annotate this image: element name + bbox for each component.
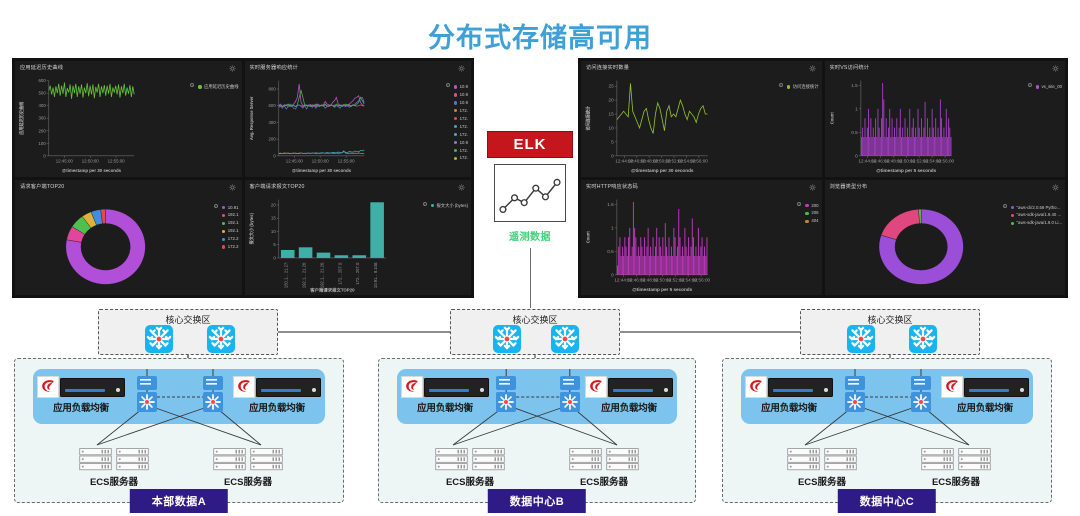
datacenter-switch-icon[interactable] [493,375,519,415]
lb-brand-icon [233,376,255,398]
legend-item[interactable]: 172. [454,131,468,139]
legend-item[interactable]: 172. [454,115,468,123]
legend-item[interactable]: "aws-sdk-java/1.9.40 ... [1011,211,1062,219]
svg-text:Avg. Response Server: Avg. Response Server [248,96,253,140]
dashboard-panel-app-latency-curve[interactable]: 应用延迟历史曲线0100200300400500600应用延迟历史曲线@time… [15,61,242,177]
legend-color-dot [454,85,457,88]
svg-text:200: 200 [39,128,47,133]
legend-item[interactable]: "aws-cli/2.0.59 Pytho... [1011,204,1062,212]
lb-brand-icon [37,376,59,398]
svg-text:100: 100 [39,141,47,146]
legend-label: 192.1 [228,219,239,227]
datacenter-switch-icon[interactable] [134,375,160,415]
legend-color-dot [431,204,434,207]
load-balancer-label: 应用负载均衡 [233,400,321,414]
legend-color-dot [1036,85,1039,88]
svg-text:800: 800 [268,87,276,92]
svg-text:300: 300 [39,116,47,121]
server-rack-icon [472,447,505,471]
svg-text:0: 0 [611,154,614,159]
ecs-server-group[interactable]: ECS服务器 [919,447,993,488]
lb-brand-icon [585,376,607,398]
telemetry-label: 遥测数据 [487,228,573,243]
load-balancer-label: 应用负载均衡 [941,400,1029,414]
legend-color-dot [222,238,225,241]
svg-text:192.1... 21.26:: 192.1... 21.26: [301,261,306,287]
legend-label: 172. [460,123,468,131]
legend-info-icon[interactable]: i [446,83,450,87]
legend-color-dot [454,157,457,160]
ecs-server-label: ECS服务器 [77,474,151,488]
ecs-server-label: ECS服务器 [567,474,641,488]
svg-text:20: 20 [609,98,615,103]
dashboard-panel-client-request-size-top20[interactable]: 客户端请求报文TOP2005101520报文大小 (bytes)客户端请求报文T… [245,180,472,296]
ecs-server-group[interactable]: ECS服务器 [785,447,859,488]
ecs-server-group[interactable]: ECS服务器 [211,447,285,488]
load-balancer-label: 应用负载均衡 [37,400,125,414]
svg-text:0: 0 [43,153,46,158]
svg-text:5: 5 [273,242,276,247]
legend-item[interactable]: 访问连接统计 [787,83,819,91]
svg-text:0: 0 [855,154,858,159]
svg-text:1.5: 1.5 [607,202,614,207]
legend-label: "aws-cli/2.0.59 Pytho... [1017,204,1061,212]
svg-text:600: 600 [268,103,276,108]
panel-title: 请求客户端TOP20 [20,183,64,190]
ecs-server-label: ECS服务器 [919,474,993,488]
svg-text:600: 600 [39,78,47,83]
legend-item[interactable]: 192.1 [222,211,239,219]
svg-text:15: 15 [270,215,276,220]
lb-server-icon [964,378,1029,397]
legend-color-dot [222,230,225,233]
svg-text:0.5: 0.5 [851,130,858,135]
legend-color-dot [454,125,457,128]
server-rack-icon [787,447,820,471]
legend-label: 404 [811,217,818,225]
svg-text:@timestamp per 5 seconds: @timestamp per 5 seconds [632,287,693,292]
panel-title: 浏览器类型分布 [830,183,868,190]
legend-label: "aws-sdk-java/1.9.0 Li... [1017,219,1062,227]
panel-title: 应用延迟历史曲线 [20,64,63,71]
datacenter-b: 应用负载均衡应用负载均衡 数据中心B ECS服务器ECS服务器 [378,358,696,503]
load-balancer-icon[interactable]: 应用负载均衡 [233,375,321,414]
legend-label: 172. [460,154,468,162]
svg-text:访问连接统计: 访问连接统计 [584,105,591,130]
dashboard-panel-realtime-vs-access[interactable]: 实时VS访问统计00.511.5Count@timestamp per 5 se… [825,61,1066,177]
panel-legend: ivs_site_00 [1028,83,1062,91]
legend-item[interactable]: vs_site_00 [1036,83,1062,91]
panel-title: 实时VS访问统计 [830,64,870,71]
zone-title: 核心交换区 [801,313,979,326]
panel-legend: i报文大小 (bytes) [423,202,468,210]
svg-text:12:56:00: 12:56:00 [690,159,709,164]
legend-label: 报文大小 (bytes) [436,202,468,210]
zone-title: 核心交换区 [99,313,277,326]
datacenter-switch-icon[interactable] [557,375,583,415]
server-rack-icon [213,447,246,471]
network-switch-icon[interactable] [207,325,235,353]
ecs-server-label: ECS服务器 [433,474,507,488]
ecs-server-label: ECS服务器 [211,474,285,488]
lb-server-icon [60,378,125,397]
panel-legend: i200206404 [797,202,818,226]
legend-color-dot [805,212,808,215]
lb-brand-icon [941,376,963,398]
legend-label: 172. [460,107,468,115]
load-balancer-label: 应用负载均衡 [401,400,489,414]
panel-plot: 00.511.5Count@timestamp per 5 seconds12:… [581,194,822,296]
legend-info-icon[interactable]: i [214,204,218,208]
legend-item[interactable]: 172. [454,123,468,131]
legend-info-icon[interactable]: i [797,202,801,206]
svg-text:@timestamp per 30 seconds: @timestamp per 30 seconds [291,168,351,173]
legend-color-dot [805,204,808,207]
legend-label: 172.2 [228,243,239,251]
svg-text:12:56:00: 12:56:00 [692,277,711,282]
svg-text:200: 200 [268,137,276,142]
panel-legend: i10.91192.1192.1192.1172.2172.2 [214,204,239,252]
legend-color-dot [805,220,808,223]
svg-text:1: 1 [855,107,858,112]
svg-text:12:56:00: 12:56:00 [936,159,955,164]
svg-text:25: 25 [609,84,615,89]
legend-color-dot [454,149,457,152]
server-rack-icon [116,447,149,471]
elk-connector-line [530,248,531,308]
ecs-server-group[interactable]: ECS服务器 [77,447,151,488]
panel-plot [15,194,242,296]
legend-label: 10.9 [460,83,468,91]
legend-info-icon[interactable]: i [423,202,427,206]
panel-title: 实时服务器响应统计 [250,64,299,71]
datacenter-switch-icon[interactable] [200,375,226,415]
network-switch-icon[interactable] [493,325,521,353]
zone-title: 核心交换区 [451,313,619,326]
legend-label: 172. [460,115,468,123]
svg-text:0: 0 [611,272,614,277]
svg-text:1: 1 [611,225,614,230]
server-rack-icon [569,447,602,471]
lb-brand-icon [401,376,423,398]
svg-text:10.91... 9.108:: 10.91... 9.108: [373,261,378,287]
legend-info-icon[interactable]: i [1003,204,1007,208]
svg-text:10: 10 [270,229,276,234]
svg-text:150.1... 21.27:: 150.1... 21.27: [283,261,288,287]
load-balancer-icon[interactable]: 应用负载均衡 [401,375,489,414]
panel-legend: i10.910.910.9172.172.172.172.10.9172.172… [446,83,468,162]
legend-color-dot [222,214,225,217]
lb-server-icon [424,378,489,397]
server-rack-icon [824,447,857,471]
svg-text:172... 207.0:: 172... 207.0: [337,261,342,284]
svg-text:400: 400 [268,120,276,125]
core-switch-zone-b: 核心交换区 [450,309,620,355]
server-rack-icon [250,447,283,471]
legend-item[interactable]: 206 [805,209,818,217]
legend-label: vs_site_00 [1041,83,1062,91]
svg-text:0: 0 [273,153,276,158]
server-rack-icon [921,447,954,471]
svg-text:12:45:00: 12:45:00 [285,159,303,164]
svg-text:报文大小 (bytes): 报文大小 (bytes) [247,212,254,244]
legend-color-dot [1011,222,1014,225]
lb-brand-icon [745,376,767,398]
svg-text:12:50:00: 12:50:00 [82,159,100,164]
legend-label: 访问连接统计 [793,83,819,91]
load-balancer-icon[interactable]: 应用负载均衡 [745,375,833,414]
svg-text:192.1... 21.26:: 192.1... 21.26: [319,261,324,287]
svg-text:12:50:00: 12:50:00 [311,159,329,164]
legend-label: 应用延迟历史曲线 [204,83,238,91]
legend-item[interactable]: 172. [454,107,468,115]
legend-item[interactable]: 172.2 [222,243,239,251]
legend-label: "aws-sdk-java/1.9.40 ... [1017,211,1062,219]
legend-label: 172. [460,147,468,155]
legend-color-dot [787,85,790,88]
legend-label: 172.2 [228,235,239,243]
dashboard-panel-request-client-top20[interactable]: 请求客户端TOP20i10.91192.1192.1192.1172.2172.… [15,180,242,296]
svg-text:Count: Count [829,112,834,124]
panel-legend: i访问连接统计 [779,83,819,91]
svg-text:12:55:00: 12:55:00 [337,159,355,164]
line-chart-icon [494,164,566,222]
load-balancer-label: 应用负载均衡 [585,400,673,414]
datacenter-badge: 数据中心C [838,489,936,513]
legend-item[interactable]: 应用延迟历史曲线 [198,83,238,91]
legend-label: 10.9 [460,99,468,107]
legend-item[interactable]: 172. [454,154,468,162]
core-switch-zone-c: 核心交换区 [800,309,980,355]
load-balancer-label: 应用负载均衡 [745,400,833,414]
svg-text:@timestamp per 5 seconds: @timestamp per 5 seconds [876,168,937,173]
legend-color-dot [454,141,457,144]
datacenter-a: 应用负载均衡应用负载均衡 本部数据A ECS服务器ECS服务器 [14,358,344,503]
panel-title: 访问连接实时数量 [586,64,629,71]
panel-title: 客户端请求报文TOP20 [250,183,305,190]
lb-band: 应用负载均衡应用负载均衡 [741,369,1033,424]
legend-color-dot [222,206,225,209]
legend-color-dot [1011,206,1014,209]
legend-item[interactable]: 192.1 [222,219,239,227]
legend-color-dot [454,109,457,112]
legend-item[interactable]: 10.9 [454,139,468,147]
legend-label: 10.9 [460,91,468,99]
legend-item[interactable]: 200 [805,202,818,210]
lb-band: 应用负载均衡应用负载均衡 [397,369,677,424]
load-balancer-icon[interactable]: 应用负载均衡 [941,375,1029,414]
lb-server-icon [768,378,833,397]
panel-plot: 0200400600800Avg. Response Server@timest… [245,75,472,177]
dashboard-panel-realtime-connection-count[interactable]: 访问连接实时数量0510152025访问连接统计@timestamp per 3… [581,61,822,177]
network-switch-icon[interactable] [551,325,579,353]
datacenter-switch-icon[interactable] [842,375,868,415]
legend-label: 10.9 [460,139,468,147]
legend-color-dot [222,245,225,248]
dashboard-right: 访问连接实时数量0510152025访问连接统计@timestamp per 3… [578,58,1068,298]
legend-item[interactable]: "aws-sdk-java/1.9.0 Li... [1011,219,1062,227]
elk-block: ELK 遥测数据 [487,131,573,243]
svg-text:0.5: 0.5 [607,249,614,254]
panel-legend: i"aws-cli/2.0.59 Pytho..."aws-sdk-java/1… [1003,204,1062,228]
legend-info-icon[interactable]: i [779,83,783,87]
panel-title: 实时HTTP响应状态码 [586,183,638,190]
svg-text:应用延迟历史曲线: 应用延迟历史曲线 [18,101,25,135]
svg-text:12:45:00: 12:45:00 [56,159,74,164]
server-rack-icon [79,447,112,471]
datacenter-badge: 数据中心B [488,489,586,513]
legend-info-icon[interactable]: i [190,83,194,87]
legend-color-dot [1011,214,1014,217]
svg-text:客户端请求报文TOP20: 客户端请求报文TOP20 [309,286,355,293]
legend-color-dot [454,101,457,104]
ecs-server-label: ECS服务器 [785,474,859,488]
legend-item[interactable]: 172. [454,147,468,155]
legend-label: 192.1 [228,227,239,235]
svg-text:12:55:00: 12:55:00 [108,159,126,164]
svg-text:20: 20 [270,202,276,207]
panel-legend: i应用延迟历史曲线 [190,83,238,91]
network-switch-icon[interactable] [145,325,173,353]
legend-item[interactable]: 10.9 [454,83,468,91]
elk-badge: ELK [487,131,573,158]
svg-text:172... 207.0:: 172... 207.0: [355,261,360,284]
legend-label: 172. [460,131,468,139]
datacenter-c: 应用负载均衡应用负载均衡 数据中心C ECS服务器ECS服务器 [722,358,1052,503]
legend-label: 200 [811,202,818,210]
server-rack-icon [958,447,991,471]
network-switch-icon[interactable] [847,325,875,353]
legend-item[interactable]: 10.9 [454,91,468,99]
svg-text:@timestamp per 30 seconds: @timestamp per 30 seconds [62,168,122,173]
server-rack-icon [435,447,468,471]
svg-text:400: 400 [39,103,47,108]
lb-band: 应用负载均衡应用负载均衡 [33,369,325,424]
lb-server-icon [608,378,673,397]
dashboard-left: 应用延迟历史曲线0100200300400500600应用延迟历史曲线@time… [12,58,474,298]
legend-color-dot [454,117,457,120]
legend-label: 192.1 [228,211,239,219]
network-switch-icon[interactable] [909,325,937,353]
core-switch-zone-a: 核心交换区 [98,309,278,355]
lb-server-icon [256,378,321,397]
svg-text:500: 500 [39,91,47,96]
legend-color-dot [222,222,225,225]
svg-text:10: 10 [609,126,615,131]
dashboard-panel-browser-type-distribution[interactable]: 浏览器类型分布i"aws-cli/2.0.59 Pytho..."aws-sdk… [825,180,1066,296]
load-balancer-icon[interactable]: 应用负载均衡 [37,375,125,414]
svg-text:5: 5 [611,140,614,145]
legend-item[interactable]: 404 [805,217,818,225]
server-rack-icon [606,447,639,471]
svg-text:Count: Count [585,230,590,242]
legend-item[interactable]: 172.2 [222,235,239,243]
legend-color-dot [454,133,457,136]
legend-item[interactable]: 10.9 [454,99,468,107]
datacenter-switch-icon[interactable] [908,375,934,415]
legend-label: 10.91 [228,204,239,212]
legend-color-dot [454,93,457,96]
load-balancer-icon[interactable]: 应用负载均衡 [585,375,673,414]
legend-item[interactable]: 10.91 [222,204,239,212]
dashboard-panel-realtime-service-response[interactable]: 实时服务器响应统计0200400600800Avg. Response Serv… [245,61,472,177]
svg-text:15: 15 [609,112,615,117]
datacenter-badge: 本部数据A [130,489,228,513]
legend-item[interactable]: 报文大小 (bytes) [431,202,468,210]
svg-text:0: 0 [273,255,276,260]
ecs-server-group[interactable]: ECS服务器 [567,447,641,488]
legend-info-icon[interactable]: i [1028,83,1032,87]
legend-color-dot [198,85,201,88]
svg-text:@timestamp per 30 seconds: @timestamp per 30 seconds [631,168,694,173]
legend-item[interactable]: 192.1 [222,227,239,235]
ecs-server-group[interactable]: ECS服务器 [433,447,507,488]
dashboard-panel-realtime-http-status[interactable]: 实时HTTP响应状态码00.511.5Count@timestamp per 5… [581,180,822,296]
page-title: 分布式存储高可用 [0,16,1080,55]
legend-label: 206 [811,209,818,217]
svg-text:1.5: 1.5 [851,83,858,88]
